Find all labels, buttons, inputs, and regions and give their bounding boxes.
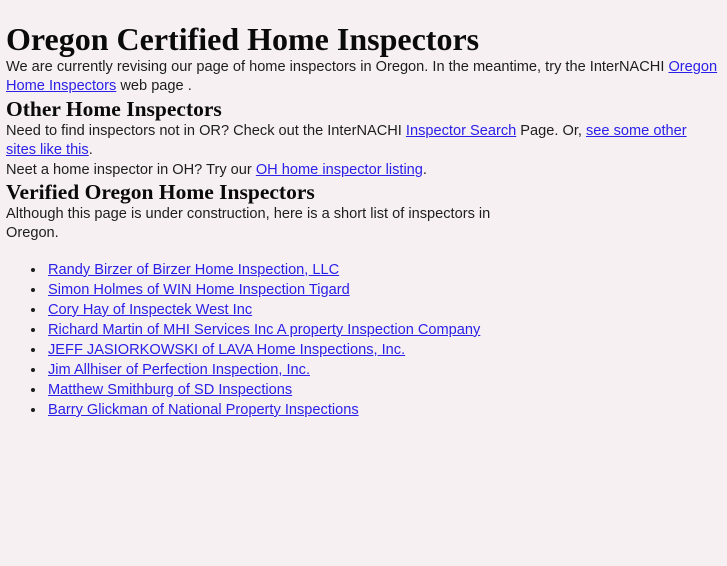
- list-item: Randy Birzer of Birzer Home Inspection, …: [6, 260, 719, 280]
- ohio-text-after-link: .: [423, 162, 427, 178]
- intro-text-after-link: web page .: [116, 78, 191, 94]
- inspector-link[interactable]: JEFF JASIORKOWSKI of LAVA Home Inspectio…: [48, 342, 405, 358]
- intro-paragraph: We are currently revising our page of ho…: [6, 58, 719, 97]
- list-item: Matthew Smithburg of SD Inspections: [6, 380, 719, 400]
- page-container: Oregon Certified Home Inspectors We are …: [0, 21, 727, 566]
- inspector-list: Randy Birzer of Birzer Home Inspection, …: [6, 260, 719, 420]
- inspector-link[interactable]: Richard Martin of MHI Services Inc A pro…: [48, 322, 480, 338]
- inspector-link[interactable]: Randy Birzer of Birzer Home Inspection, …: [48, 262, 339, 278]
- other-home-inspectors-heading: Other Home Inspectors: [6, 97, 719, 122]
- inspector-link[interactable]: Matthew Smithburg of SD Inspections: [48, 382, 292, 398]
- intro-text-before-link: We are currently revising our page of ho…: [6, 59, 668, 75]
- other-text-between-links: Page. Or,: [516, 123, 586, 139]
- inspector-link[interactable]: Barry Glickman of National Property Insp…: [48, 402, 359, 418]
- list-item: Cory Hay of Inspectek West Inc: [6, 300, 719, 320]
- list-item: Richard Martin of MHI Services Inc A pro…: [6, 320, 719, 340]
- verified-intro-paragraph: Although this page is under construction…: [6, 205, 498, 244]
- list-item: Simon Holmes of WIN Home Inspection Tiga…: [6, 280, 719, 300]
- ohio-inspector-paragraph: Neet a home inspector in OH? Try our OH …: [6, 161, 719, 181]
- page-title: Oregon Certified Home Inspectors: [6, 21, 719, 58]
- oh-home-inspector-listing-link[interactable]: OH home inspector listing: [256, 162, 423, 178]
- inspector-link[interactable]: Jim Allhiser of Perfection Inspection, I…: [48, 362, 310, 378]
- list-item: JEFF JASIORKOWSKI of LAVA Home Inspectio…: [6, 340, 719, 360]
- list-item: Jim Allhiser of Perfection Inspection, I…: [6, 360, 719, 380]
- other-text-before-link-one: Need to find inspectors not in OR? Check…: [6, 123, 406, 139]
- inspector-search-link[interactable]: Inspector Search: [406, 123, 516, 139]
- other-inspectors-paragraph: Need to find inspectors not in OR? Check…: [6, 122, 719, 161]
- ohio-text-before-link: Neet a home inspector in OH? Try our: [6, 162, 256, 178]
- inspector-link[interactable]: Simon Holmes of WIN Home Inspection Tiga…: [48, 282, 350, 298]
- list-item: Barry Glickman of National Property Insp…: [6, 400, 719, 420]
- inspector-link[interactable]: Cory Hay of Inspectek West Inc: [48, 302, 252, 318]
- other-text-after-links: .: [89, 142, 93, 158]
- verified-oregon-home-inspectors-heading: Verified Oregon Home Inspectors: [6, 180, 719, 205]
